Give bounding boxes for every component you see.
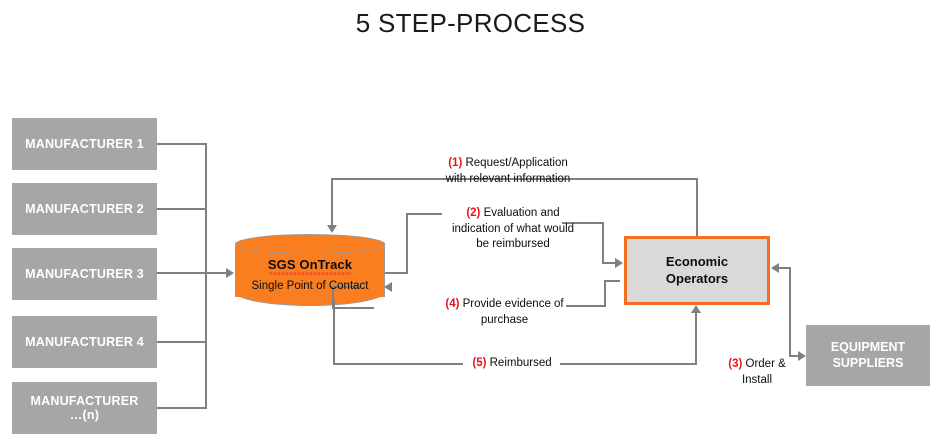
equipment-suppliers-line2: SUPPLIERS xyxy=(831,356,905,372)
step-text-1-line1: Request/Application xyxy=(465,157,567,169)
connector-step5-right-horizontal xyxy=(560,363,697,365)
connector-step2-hub-stub xyxy=(385,272,408,274)
manufacturer-sublabel-5: …(n) xyxy=(31,408,139,422)
step-number-4: (4) xyxy=(445,298,459,310)
equipment-suppliers-box: EQUIPMENT SUPPLIERS xyxy=(806,325,930,386)
step-text-3-line2: Install xyxy=(742,374,772,386)
connector-manufacturer-5 xyxy=(157,407,207,409)
manufacturer-box-2: MANUFACTURER 2 xyxy=(12,183,157,235)
manufacturer-label-1: MANUFACTURER 1 xyxy=(25,137,144,151)
manufacturer-box-5: MANUFACTURER …(n) xyxy=(12,382,157,434)
sgs-ontrack-database: SGS OnTrack Single Point of Contact xyxy=(235,234,385,306)
cylinder-text: SGS OnTrack Single Point of Contact xyxy=(235,256,385,292)
connector-step3-to-eco xyxy=(778,267,791,269)
step-label-3: (3) Order & Install xyxy=(722,357,792,388)
step-number-1: (1) xyxy=(448,157,462,169)
hub-title: SGS OnTrack xyxy=(268,257,352,272)
step-label-4: (4) Provide evidence of purchase xyxy=(437,297,572,328)
connector-step5-left-vertical xyxy=(333,300,335,364)
economic-operators-line1: Economic xyxy=(666,254,728,271)
connector-step4-right-vertical xyxy=(604,280,606,307)
manufacturer-box-1: MANUFACTURER 1 xyxy=(12,118,157,170)
connector-step3-vertical xyxy=(789,268,791,356)
step-number-5: (5) xyxy=(472,357,486,369)
page-title: 5 STEP-PROCESS xyxy=(0,8,941,39)
manufacturer-label-2: MANUFACTURER 2 xyxy=(25,202,144,216)
manufacturer-label-5: MANUFACTURER xyxy=(31,394,139,408)
manufacturer-label-4: MANUFACTURER 4 xyxy=(25,335,144,349)
connector-step5-right-vertical xyxy=(695,313,697,365)
connector-step5-left-horizontal xyxy=(333,363,463,365)
connector-manufacturer-bus xyxy=(205,143,207,409)
manufacturer-label-3: MANUFACTURER 3 xyxy=(25,267,144,281)
arrowhead-step1-to-hub-icon xyxy=(327,225,337,233)
connector-manufacturer-2 xyxy=(157,208,207,210)
step-label-1: (1) Request/Application with relevant in… xyxy=(413,156,603,187)
connector-manufacturer-4 xyxy=(157,341,207,343)
step-text-1-line2: with relevant information xyxy=(446,173,571,185)
manufacturer-box-3: MANUFACTURER 3 xyxy=(12,248,157,300)
connector-step4-eco-top xyxy=(604,280,620,282)
economic-operators-line2: Operators xyxy=(666,271,728,288)
connector-step1-left-vertical xyxy=(331,178,333,226)
arrowhead-bus-to-hub-icon xyxy=(226,268,234,278)
step-text-5-line1: Reimbursed xyxy=(490,357,552,369)
connector-step1-right-vertical xyxy=(696,178,698,236)
cylinder-top xyxy=(235,234,385,254)
arrowhead-step4-to-hub-icon xyxy=(384,282,392,292)
step-text-2-line2: indication of what would xyxy=(452,223,574,235)
step-text-4-line1: Provide evidence of xyxy=(463,298,564,310)
connector-step2-left-vertical xyxy=(406,213,408,274)
connector-manufacturer-1 xyxy=(157,143,207,145)
step-number-3: (3) xyxy=(728,358,742,370)
connector-step4-left-horizontal xyxy=(332,307,374,309)
step-label-5: (5) Reimbursed xyxy=(462,356,562,372)
diagram-canvas: 5 STEP-PROCESS MANUFACTURER 1 MANUFACTUR… xyxy=(0,0,941,442)
economic-operators-box: Economic Operators xyxy=(624,236,770,305)
connector-step4-eco-stub xyxy=(566,305,606,307)
step-text-2-line1: Evaluation and xyxy=(484,207,560,219)
connector-step2-left-horizontal xyxy=(406,213,442,215)
step-number-2: (2) xyxy=(466,207,480,219)
step-text-4-line2: purchase xyxy=(481,314,528,326)
arrowhead-step3-to-eco-icon xyxy=(771,263,779,273)
connector-manufacturer-3 xyxy=(157,272,207,274)
hub-subtitle: Single Point of Contact xyxy=(235,280,385,292)
arrowhead-step3-to-equip-icon xyxy=(798,351,806,361)
equipment-suppliers-line1: EQUIPMENT xyxy=(831,340,905,356)
arrowhead-step2-to-eco-icon xyxy=(615,258,623,268)
step-text-3-line1: Order & xyxy=(746,358,786,370)
manufacturer-box-4: MANUFACTURER 4 xyxy=(12,316,157,368)
step-label-2: (2) Evaluation and indication of what wo… xyxy=(443,206,583,253)
connector-step2-right-vertical xyxy=(602,222,604,263)
arrowhead-step5-to-eco-icon xyxy=(691,305,701,313)
step-text-2-line3: be reimbursed xyxy=(476,238,550,250)
connector-bus-to-hub xyxy=(205,272,227,274)
